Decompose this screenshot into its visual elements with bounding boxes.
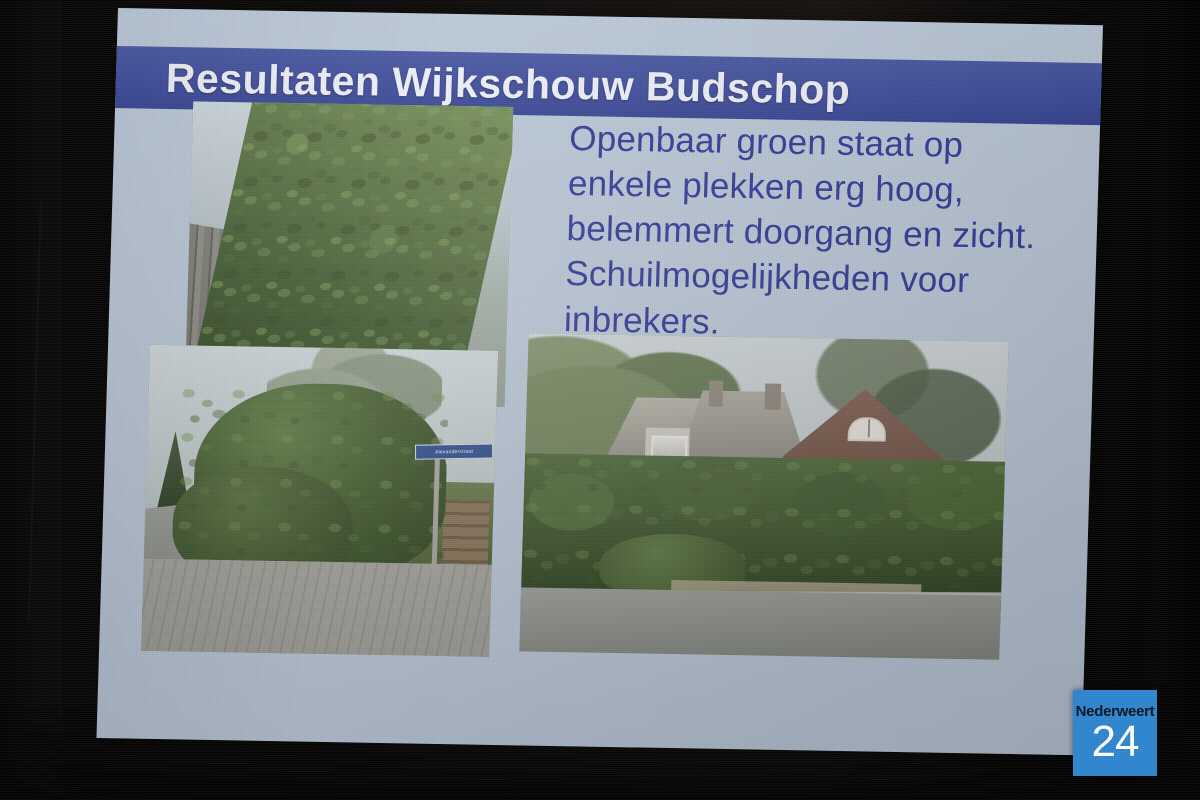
chimney-secondary [764,384,781,410]
nederweert24-watermark: Nederweert 24 [1073,690,1157,776]
screenshot-stage: Resultaten Wijkschouw Budschop Openbaar … [0,0,1200,800]
photo-corner-shrub: Alexanderstraat [141,345,498,657]
street-name-sign: Alexanderstraat [415,443,493,459]
photo-house-hedge [519,333,1008,659]
street-name-sign-label: Alexanderstraat [435,448,473,455]
watermark-number: 24 [1092,721,1139,763]
slide-body-text: Openbaar groen staat op enkele plekken e… [563,116,1070,350]
presentation-slide: Resultaten Wijkschouw Budschop Openbaar … [96,8,1103,755]
road-surface [519,587,1001,659]
projection-screen-area: Resultaten Wijkschouw Budschop Openbaar … [0,0,1200,800]
brick-pavement [141,559,492,657]
chimney [709,381,724,407]
